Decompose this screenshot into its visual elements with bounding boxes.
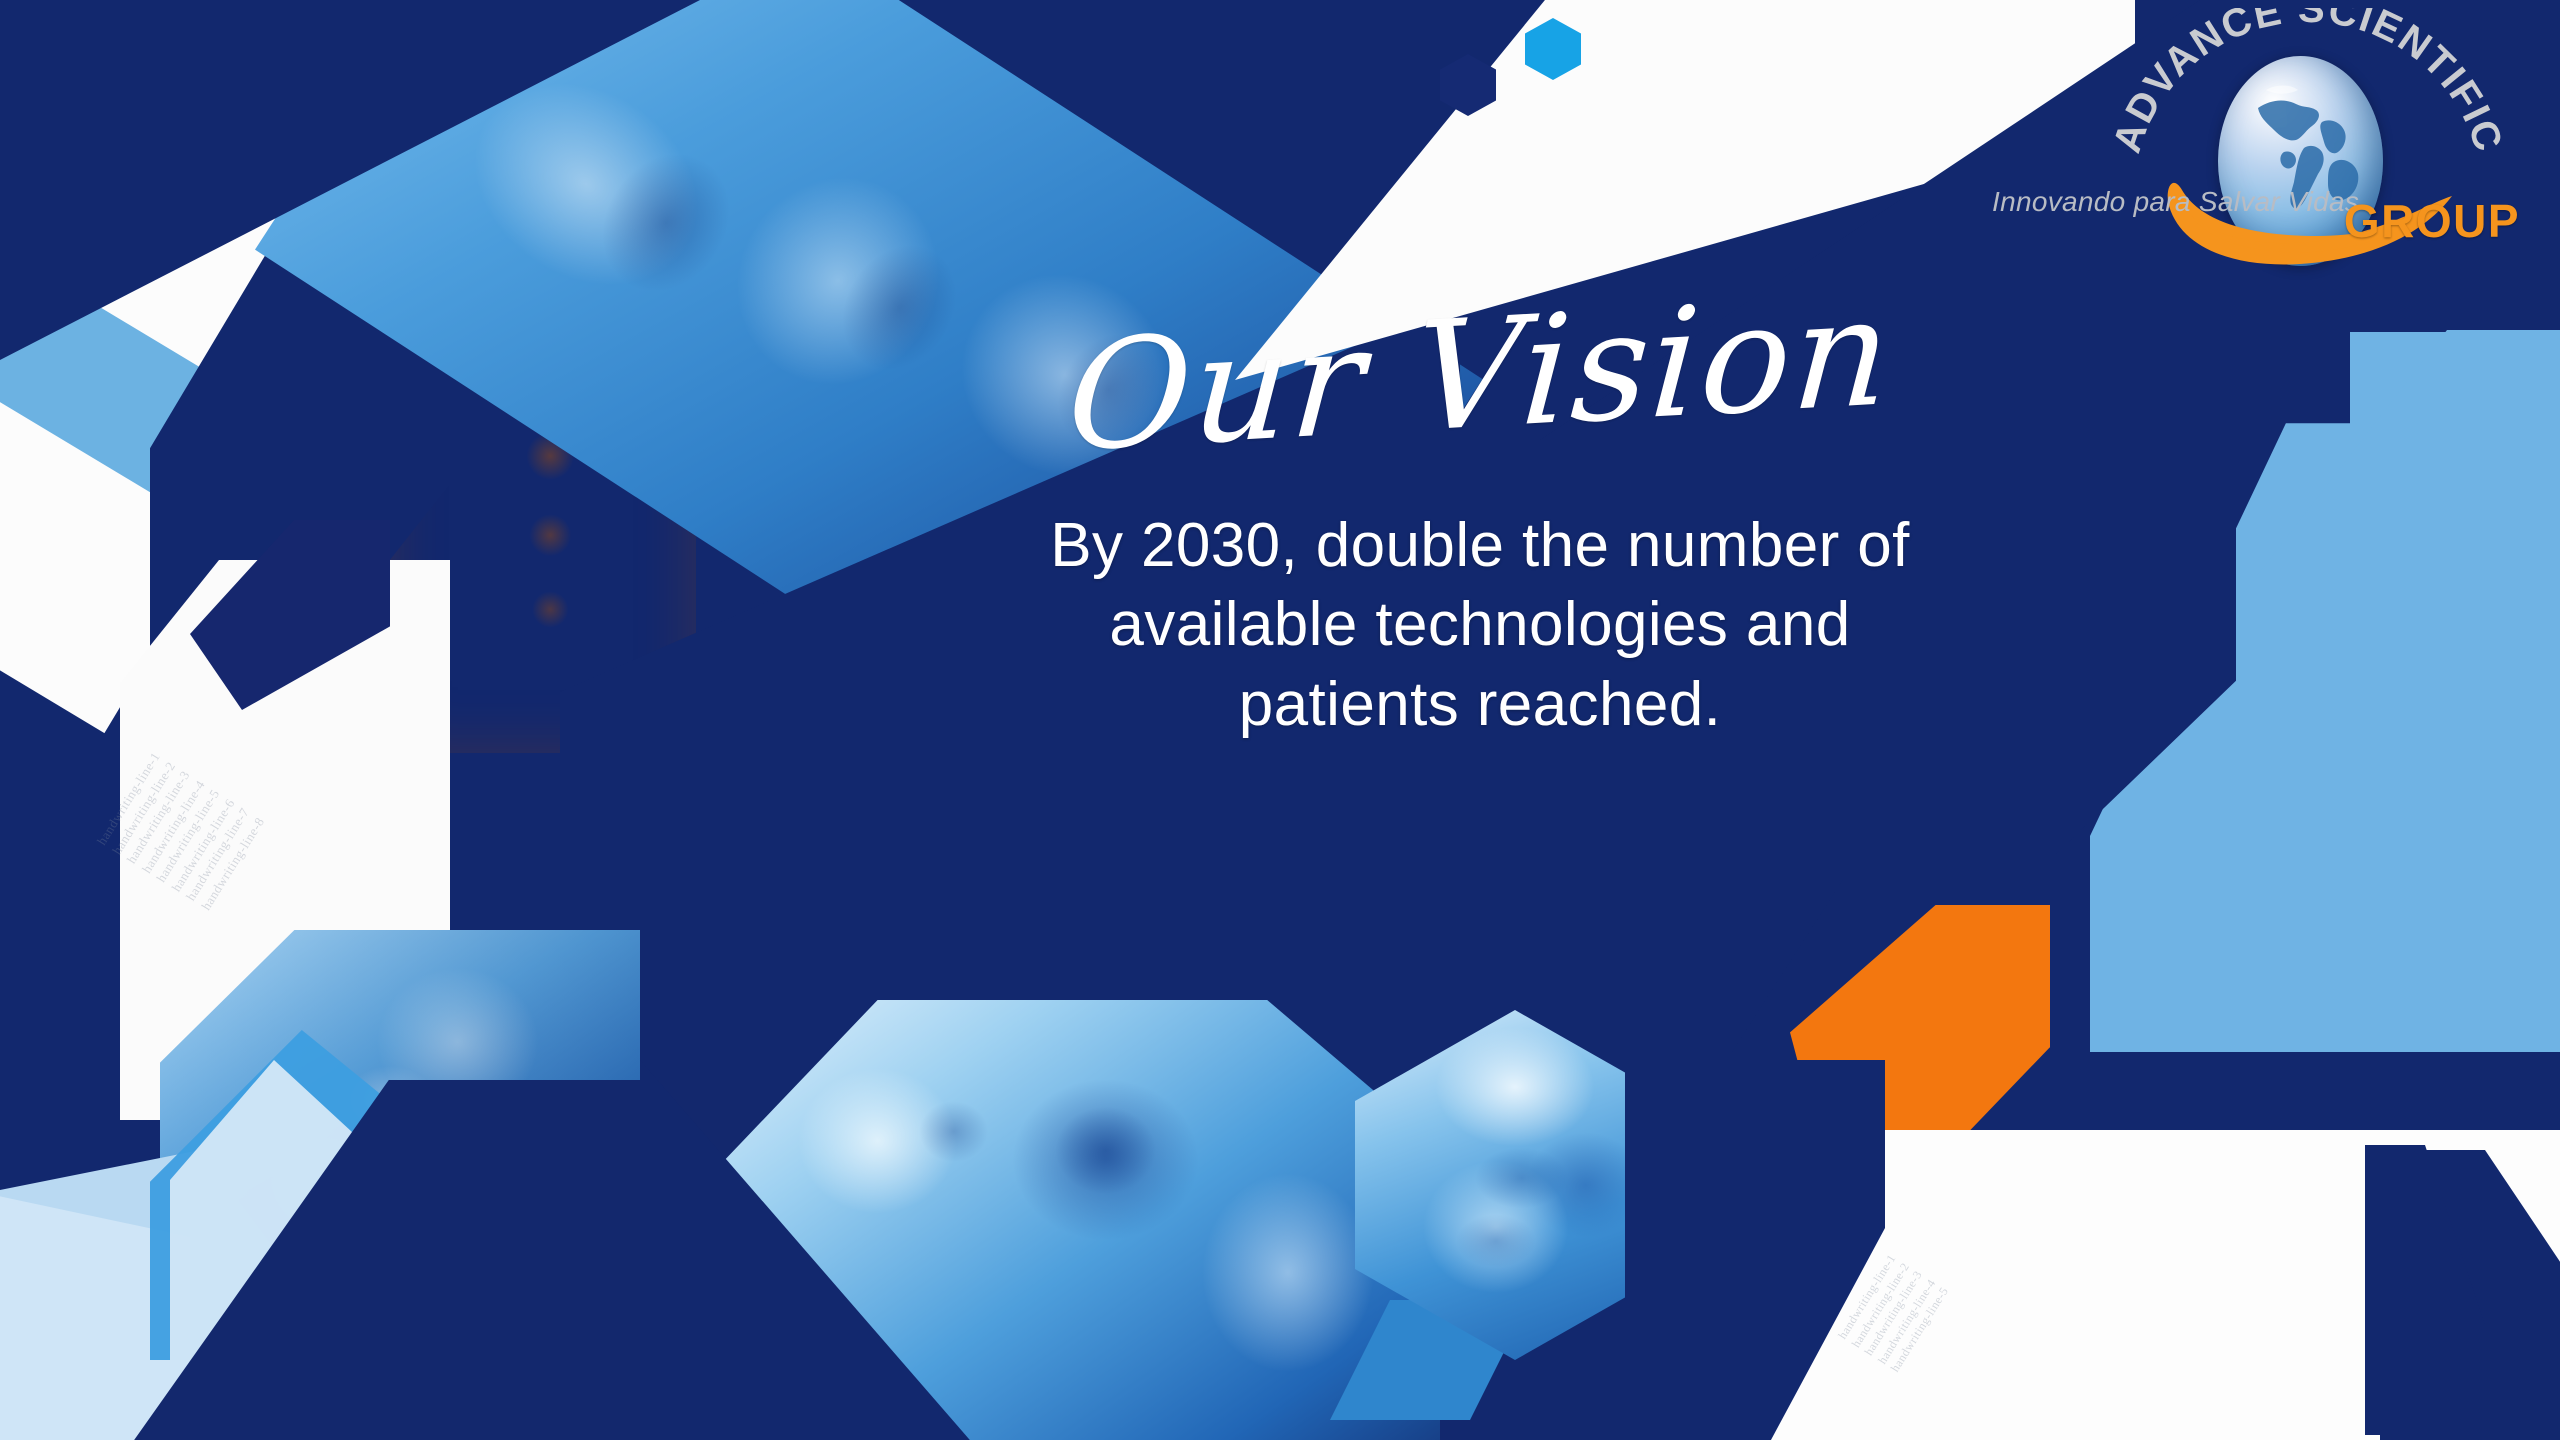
vision-line-3: patients reached. (940, 665, 2020, 744)
company-logo: ADVANCE SCIENTIFIC Innovando pa (2108, 8, 2508, 308)
vision-line-1: By 2030, double the number of (940, 506, 2020, 585)
logo-tagline: Innovando para Salvar Vidas (1992, 186, 2322, 218)
vision-statement: By 2030, double the number of available … (940, 506, 2020, 744)
slide-canvas: handwriting-line-1 handwriting-line-2 ha… (0, 0, 2560, 1440)
logo-group-word: GROUP (2344, 194, 2520, 248)
vision-content-block: Our Vision By 2030, double the number of… (940, 300, 2020, 744)
vision-line-2: available technologies and (940, 585, 2020, 664)
page-title: Our Vision (936, 269, 2024, 480)
